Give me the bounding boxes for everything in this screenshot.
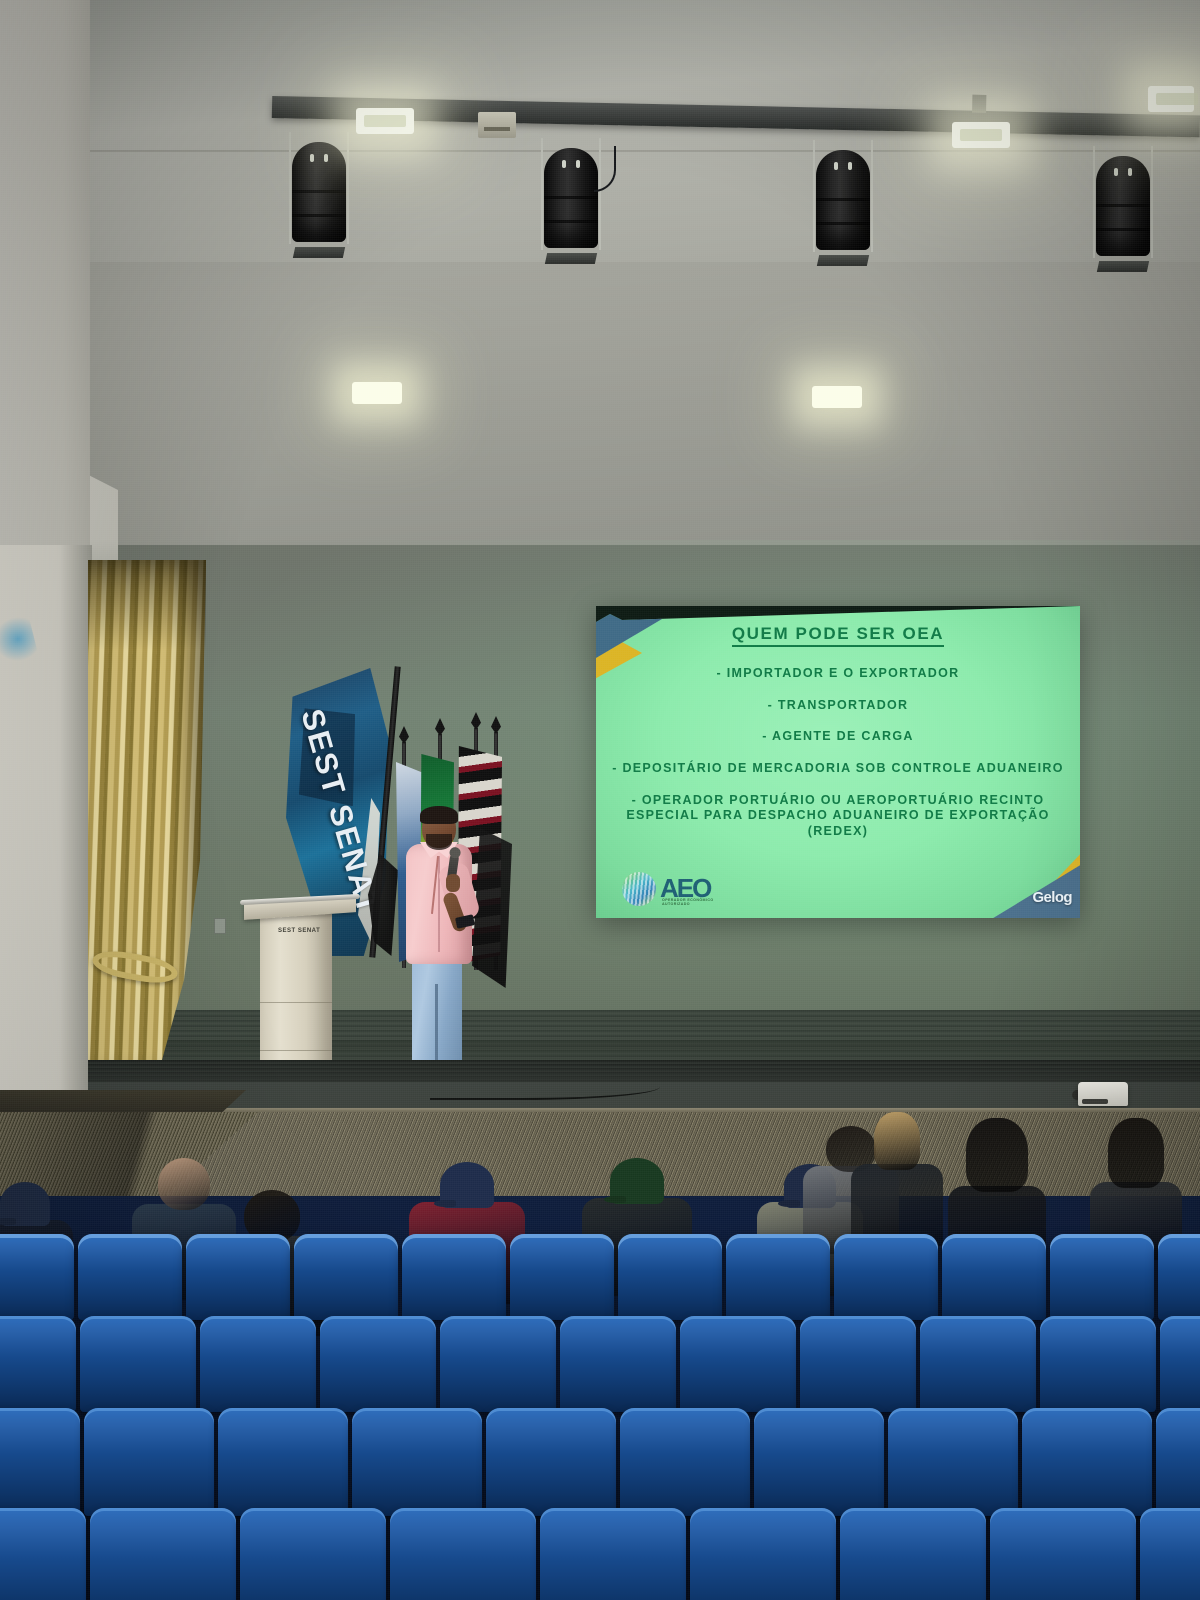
ceiling-shadow-band xyxy=(0,262,1200,442)
auditorium-seat[interactable] xyxy=(352,1408,482,1516)
speaker-hand xyxy=(446,874,460,892)
auditorium-seat[interactable] xyxy=(990,1508,1136,1600)
stage-light-can-4 xyxy=(1092,142,1154,262)
aeo-logo-subtitle: OPERADOR ECONÔMICO AUTORIZADO xyxy=(662,898,738,906)
auditorium-seat[interactable] xyxy=(218,1408,348,1516)
slide-title-text: QUEM PODE SER OEA xyxy=(732,624,944,647)
stage-light-can-3 xyxy=(812,136,874,256)
auditorium-seat[interactable] xyxy=(726,1234,830,1320)
slide-bullet-list: - IMPORTADOR E O EXPORTADOR - TRANSPORTA… xyxy=(608,666,1068,839)
auditorium-seat[interactable] xyxy=(440,1316,556,1412)
slide-bullet-3: - AGENTE DE CARGA xyxy=(608,729,1068,745)
auditorium-seat[interactable] xyxy=(840,1508,986,1600)
auditorium-seat[interactable] xyxy=(390,1508,536,1600)
auditorium-seat[interactable] xyxy=(680,1316,796,1412)
audience-member-hair xyxy=(874,1112,920,1170)
auditorium-seat[interactable] xyxy=(1022,1408,1152,1516)
auditorium-seat[interactable] xyxy=(510,1234,614,1320)
auditorium-seat[interactable] xyxy=(240,1508,386,1600)
auditorium-seat[interactable] xyxy=(90,1508,236,1600)
slide-bullet-1: - IMPORTADOR E O EXPORTADOR xyxy=(608,666,1068,682)
stage-light-can-2 xyxy=(540,134,602,254)
baseball-cap xyxy=(440,1162,494,1208)
auditorium-seat[interactable] xyxy=(200,1316,316,1412)
speaker-hair xyxy=(420,806,458,824)
flood-light-3 xyxy=(1148,86,1194,112)
projection-screen: QUEM PODE SER OEA - IMPORTADOR E O EXPOR… xyxy=(596,606,1080,918)
auditorium-seat[interactable] xyxy=(1140,1508,1200,1600)
auditorium-seat[interactable] xyxy=(1050,1234,1154,1320)
audience-member-hair xyxy=(966,1118,1028,1192)
presentation-slide: QUEM PODE SER OEA - IMPORTADOR E O EXPOR… xyxy=(596,606,1080,918)
auditorium-seat[interactable] xyxy=(1156,1408,1200,1516)
audience-member-head xyxy=(158,1158,210,1210)
aeo-logo: AEO OPERADOR ECONÔMICO AUTORIZADO xyxy=(622,870,738,908)
baseball-cap xyxy=(610,1158,664,1204)
ceiling-panel-light-2 xyxy=(812,386,862,408)
auditorium-seat[interactable] xyxy=(320,1316,436,1412)
slide-title: QUEM PODE SER OEA xyxy=(596,624,1080,644)
curtain-top-shadow xyxy=(88,560,206,650)
auditorium-seat[interactable] xyxy=(560,1316,676,1412)
auditorium-seat[interactable] xyxy=(540,1508,686,1600)
auditorium-seat[interactable] xyxy=(834,1234,938,1320)
can-light-vents xyxy=(308,154,332,160)
speaker-person xyxy=(400,808,476,1098)
auditorium-seat[interactable] xyxy=(0,1408,80,1516)
auditorium-seat[interactable] xyxy=(942,1234,1046,1320)
slide-bullet-5: - OPERADOR PORTUÁRIO OU AEROPORTUÁRIO RE… xyxy=(608,793,1068,840)
speaker-beard xyxy=(426,834,452,850)
auditorium-seat[interactable] xyxy=(84,1408,214,1516)
auditorium-seat[interactable] xyxy=(402,1234,506,1320)
left-wall-upper xyxy=(0,0,90,545)
auditorium-seat[interactable] xyxy=(690,1508,836,1600)
auditorium-seat[interactable] xyxy=(1040,1316,1156,1412)
auditorium-seat[interactable] xyxy=(80,1316,196,1412)
auditorium-seat[interactable] xyxy=(0,1234,74,1320)
auditorium-seat[interactable] xyxy=(1160,1316,1200,1412)
auditorium-seat[interactable] xyxy=(920,1316,1036,1412)
gelog-logo-text: Gelog xyxy=(1032,889,1072,906)
auditorium-photo: SEST SENAT SEST SENAT xyxy=(0,0,1200,1600)
auditorium-seat[interactable] xyxy=(186,1234,290,1320)
slide-bullet-2: - TRANSPORTADOR xyxy=(608,698,1068,714)
auditorium-seat[interactable] xyxy=(294,1234,398,1320)
ceiling-panel-light-1 xyxy=(352,382,402,404)
stage-light-can-1 xyxy=(288,128,350,248)
aeo-globe-icon xyxy=(622,872,656,906)
rail-junction-box xyxy=(478,112,516,138)
audience-member-hair xyxy=(1108,1118,1164,1188)
auditorium-seat[interactable] xyxy=(618,1234,722,1320)
auditorium-seat[interactable] xyxy=(1158,1234,1200,1320)
flood-light-2 xyxy=(952,122,1010,148)
projector xyxy=(1078,1082,1128,1106)
track-mount xyxy=(972,95,986,113)
speaker-jeans xyxy=(412,958,462,1076)
auditorium-seat[interactable] xyxy=(0,1508,86,1600)
auditorium-seat[interactable] xyxy=(78,1234,182,1320)
wall-outlet xyxy=(214,918,226,934)
auditorium-seat[interactable] xyxy=(620,1408,750,1516)
auditorium-seat[interactable] xyxy=(486,1408,616,1516)
flood-light-1 xyxy=(356,108,414,134)
podium-logo-text: SEST SENAT xyxy=(278,928,320,934)
baseball-cap xyxy=(0,1182,50,1226)
auditorium-seat[interactable] xyxy=(800,1316,916,1412)
slide-bullet-4: - DEPOSITÁRIO DE MERCADORIA SOB CONTROLE… xyxy=(608,761,1068,777)
auditorium-seat[interactable] xyxy=(0,1316,76,1412)
auditorium-seat[interactable] xyxy=(888,1408,1018,1516)
auditorium-seat[interactable] xyxy=(754,1408,884,1516)
